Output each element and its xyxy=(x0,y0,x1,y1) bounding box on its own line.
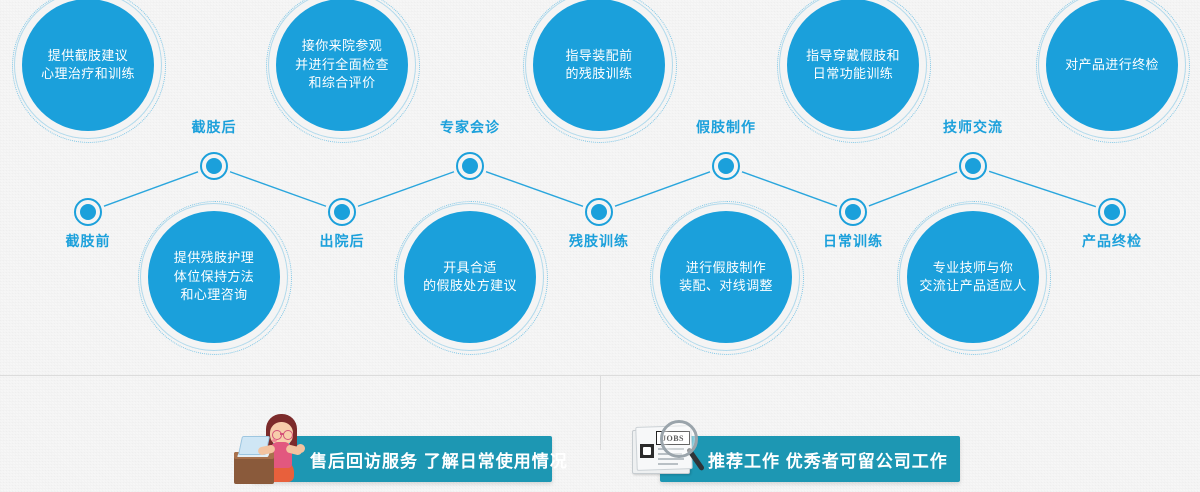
bottom-bubble-2[interactable]: 开具合适 的假肢处方建议 xyxy=(404,211,536,343)
flow-node-2[interactable] xyxy=(200,152,228,180)
process-flow-diagram: 提供截肢建议 心理治疗和训练接你来院参观 并进行全面检查 和综合评价指导装配前 … xyxy=(0,0,1200,492)
jobs-newspaper-magnifier-icon: JOBS xyxy=(630,418,704,482)
top-bubble-2[interactable]: 接你来院参观 并进行全面检查 和综合评价 xyxy=(276,0,408,131)
flow-node-7[interactable] xyxy=(839,198,867,226)
bottom-bubble-1[interactable]: 提供残肢护理 体位保持方法 和心理咨询 xyxy=(148,211,280,343)
flow-node-label-2: 截肢后 xyxy=(192,117,237,137)
flow-node-3[interactable] xyxy=(328,198,356,226)
flow-node-label-6: 假肢制作 xyxy=(696,117,756,137)
top-bubble-label-3: 指导装配前 的残肢训练 xyxy=(557,47,640,84)
top-bubble-label-2: 接你来院参观 并进行全面检查 和综合评价 xyxy=(287,37,397,92)
top-bubble-4[interactable]: 指导穿戴假肢和 日常功能训练 xyxy=(787,0,919,131)
vertical-divider xyxy=(600,375,601,450)
flow-node-label-7: 日常训练 xyxy=(823,231,883,251)
top-bubble-1[interactable]: 提供截肢建议 心理治疗和训练 xyxy=(22,0,154,131)
top-bubble-label-1: 提供截肢建议 心理治疗和训练 xyxy=(33,47,143,84)
flow-node-1[interactable] xyxy=(74,198,102,226)
flow-node-label-3: 出院后 xyxy=(320,231,365,251)
banner-after-sales-label: 售后回访服务 了解日常使用情况 xyxy=(310,447,568,472)
top-bubble-3[interactable]: 指导装配前 的残肢训练 xyxy=(533,0,665,131)
top-bubble-label-5: 对产品进行终检 xyxy=(1057,56,1167,74)
flow-node-4[interactable] xyxy=(456,152,484,180)
flow-node-label-9: 产品终检 xyxy=(1082,231,1142,251)
banner-job-referral[interactable]: 推荐工作 优秀者可留公司工作 xyxy=(660,436,960,482)
flow-node-label-4: 专家会诊 xyxy=(440,117,500,137)
top-bubble-5[interactable]: 对产品进行终检 xyxy=(1046,0,1178,131)
flow-node-9[interactable] xyxy=(1098,198,1126,226)
bottom-bubble-3[interactable]: 进行假肢制作 装配、对线调整 xyxy=(660,211,792,343)
top-bubble-label-4: 指导穿戴假肢和 日常功能训练 xyxy=(798,47,908,84)
bottom-bubble-label-2: 开具合适 的假肢处方建议 xyxy=(415,259,525,296)
flow-node-label-5: 残肢训练 xyxy=(569,231,629,251)
bottom-bubble-label-4: 专业技师与你 交流让产品适应人 xyxy=(911,259,1034,296)
bottom-bubble-label-3: 进行假肢制作 装配、对线调整 xyxy=(671,259,781,296)
flow-node-label-8: 技师交流 xyxy=(943,117,1003,137)
flow-node-5[interactable] xyxy=(585,198,613,226)
flow-node-6[interactable] xyxy=(712,152,740,180)
flow-node-label-1: 截肢前 xyxy=(66,231,111,251)
woman-at-desk-icon xyxy=(232,408,302,486)
bottom-bubble-label-1: 提供残肢护理 体位保持方法 和心理咨询 xyxy=(166,249,262,304)
bottom-bubble-4[interactable]: 专业技师与你 交流让产品适应人 xyxy=(907,211,1039,343)
flow-node-8[interactable] xyxy=(959,152,987,180)
banner-job-referral-label: 推荐工作 优秀者可留公司工作 xyxy=(708,447,948,472)
